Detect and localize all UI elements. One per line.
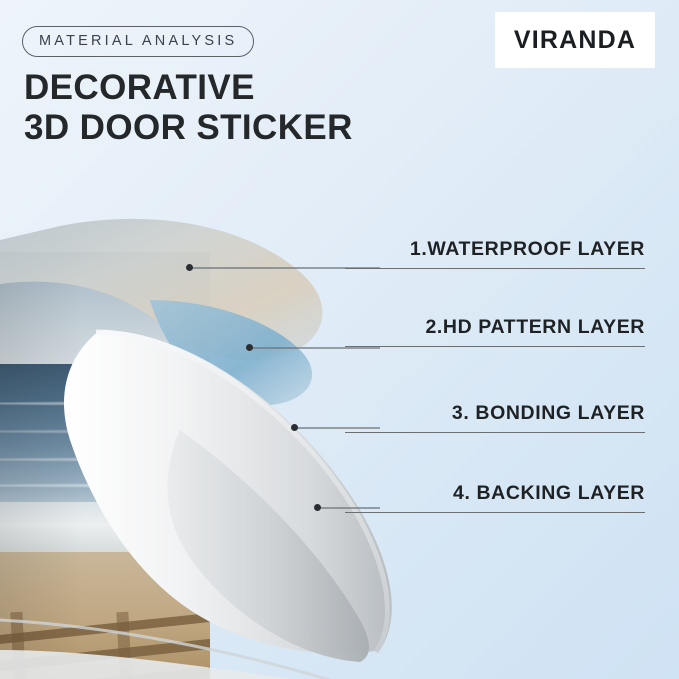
page-title-line1: DECORATIVE [24,68,255,107]
brand-logo-box: VIRANDA [495,12,655,68]
callout-layer-3: 3. BONDING LAYER [345,402,645,433]
callout-dot-1 [186,264,193,271]
brand-name: VIRANDA [514,26,636,55]
callout-layer-4: 4. BACKING LAYER [345,482,645,513]
poster-canvas: MATERIAL ANALYSIS DECORATIVE 3D DOOR STI… [0,0,679,679]
callout-layer-2: 2.HD PATTERN LAYER [345,316,645,347]
eyebrow-badge: MATERIAL ANALYSIS [22,26,254,57]
page-title-line2: 3D DOOR STICKER [24,108,353,148]
callout-list: 1.WATERPROOF LAYER 2.HD PATTERN LAYER 3.… [219,180,679,580]
callout-layer-1: 1.WATERPROOF LAYER [345,238,645,269]
page-title: DECORATIVE 3D DOOR STICKER [24,68,353,148]
